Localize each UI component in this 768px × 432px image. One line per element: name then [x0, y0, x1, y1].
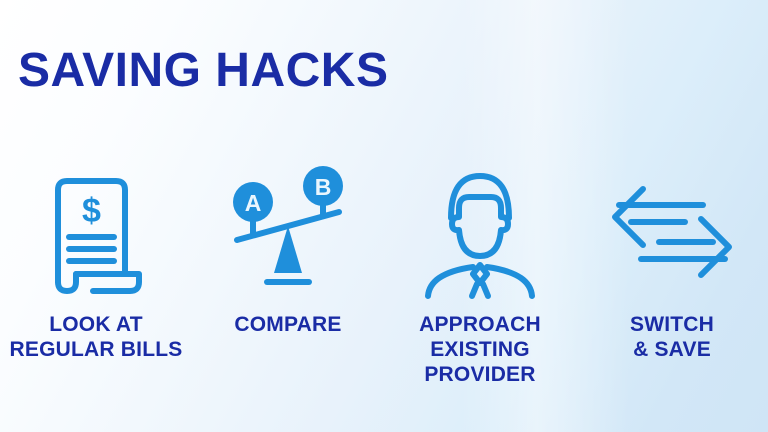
caption-line-1: LOOK AT: [10, 312, 183, 337]
step-item-look-at-regular-bills: $ LOOK AT REGULAR BILLS: [0, 160, 192, 362]
step-item-approach-existing-provider: APPROACH EXISTING PROVIDER: [384, 160, 576, 387]
step-caption: LOOK AT REGULAR BILLS: [10, 312, 183, 362]
balance-scale-icon-box: A B: [223, 160, 353, 300]
business-person-icon-box: [415, 160, 545, 300]
page-title: SAVING HACKS: [18, 44, 388, 98]
switch-arrows-icon: [607, 164, 737, 296]
caption-line-2: EXISTING: [419, 337, 541, 362]
step-caption: SWITCH & SAVE: [630, 312, 714, 362]
caption-line-3: PROVIDER: [419, 362, 541, 387]
caption-line-1: COMPARE: [234, 312, 341, 337]
step-item-switch-and-save: SWITCH & SAVE: [576, 160, 768, 362]
business-person-icon: [415, 164, 545, 296]
step-item-compare: A B COMPARE: [192, 160, 384, 337]
option-b-label: B: [315, 174, 332, 200]
bill-dollar-icon: $: [38, 164, 154, 296]
option-a-label: A: [245, 190, 262, 216]
caption-line-2: REGULAR BILLS: [10, 337, 183, 362]
steps-row: $ LOOK AT REGULAR BILLS: [0, 160, 768, 432]
fulcrum-shape: [274, 226, 302, 273]
infographic-slide: SAVING HACKS: [0, 0, 768, 432]
step-caption: APPROACH EXISTING PROVIDER: [419, 312, 541, 387]
bill-dollar-icon-box: $: [38, 160, 154, 300]
caption-line-1: SWITCH: [630, 312, 714, 337]
step-caption: COMPARE: [234, 312, 341, 337]
caption-line-2: & SAVE: [630, 337, 714, 362]
arrow-left-head: [615, 189, 643, 245]
dollar-sign-glyph: $: [82, 192, 101, 230]
switch-arrows-icon-box: [607, 160, 737, 300]
arrow-right-head: [701, 219, 729, 275]
balance-scale-icon: A B: [223, 164, 353, 296]
caption-line-1: APPROACH: [419, 312, 541, 337]
